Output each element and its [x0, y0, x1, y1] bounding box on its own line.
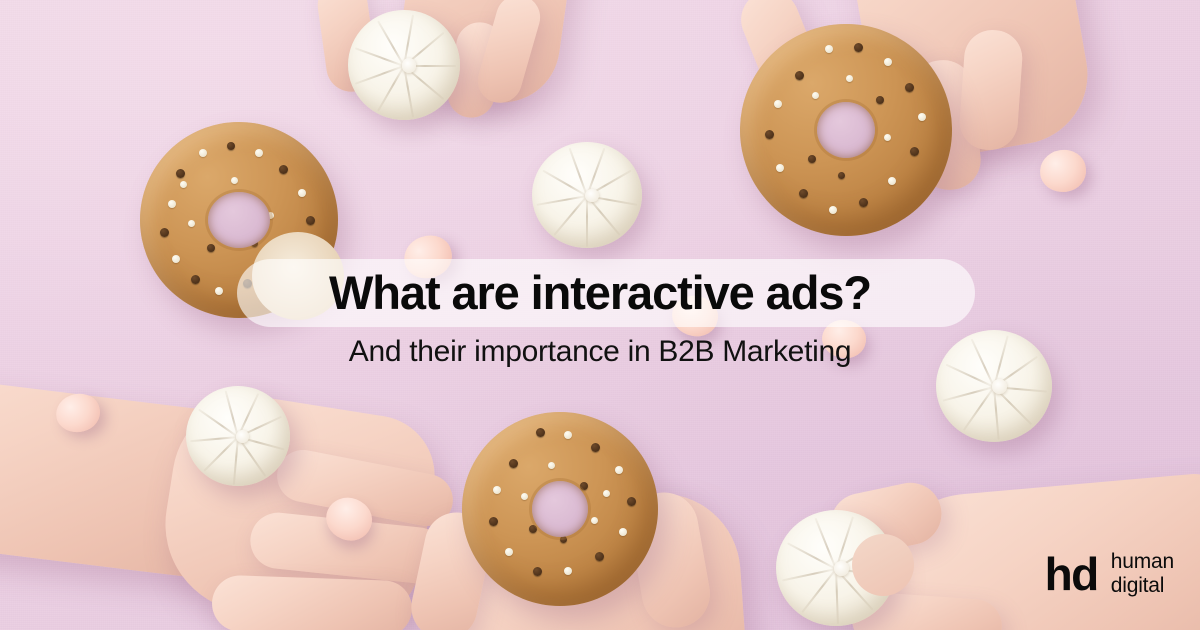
- brand-logo[interactable]: hd human digital: [1045, 550, 1174, 598]
- hand-left-finger-3: [211, 575, 413, 630]
- meringue-bite-mark: [852, 534, 914, 596]
- donut-top-right: [740, 24, 952, 236]
- meringue-top-center: [348, 10, 460, 120]
- meringue-left: [186, 386, 290, 486]
- banner-canvas: What are interactive ads? And their impo…: [0, 0, 1200, 630]
- page-title: What are interactive ads?: [0, 255, 1200, 331]
- logo-word-digital: digital: [1111, 574, 1174, 598]
- page-subtitle: And their importance in B2B Marketing: [0, 332, 1200, 372]
- logo-monogram-hd: hd: [1045, 554, 1098, 594]
- hand-top-right-finger-2: [958, 28, 1024, 152]
- logo-word-human: human: [1111, 550, 1174, 574]
- donut-bottom-center: [462, 412, 658, 606]
- logo-wordmark: human digital: [1111, 550, 1174, 598]
- meringue-center: [532, 142, 642, 248]
